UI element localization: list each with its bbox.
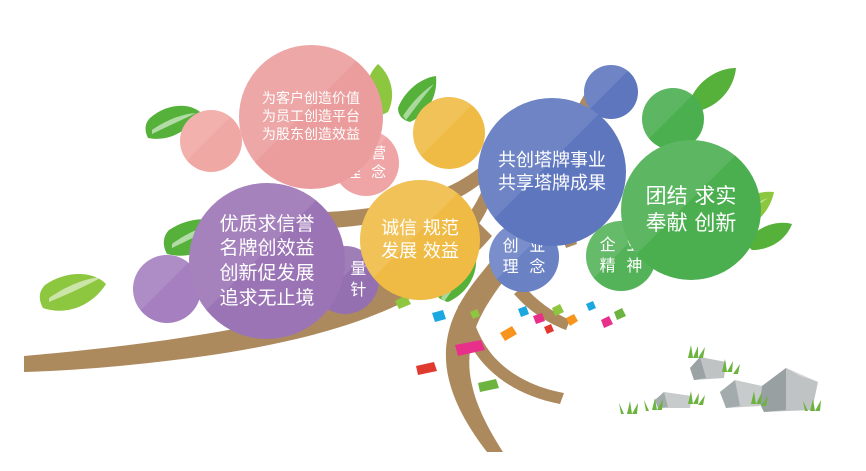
bubble-vision[interactable]: 共创塔牌事业 共享塔牌成果: [478, 98, 626, 246]
bubble-text-line: 奉献 创新: [646, 210, 737, 237]
bubble-text-line: 共创塔牌事业: [498, 149, 606, 172]
bubble-text-line: 优质求信誉: [219, 212, 314, 237]
bubble-core-values[interactable]: 诚信 规范 发展 效益: [360, 180, 480, 300]
bubble-text-line: 为员工创造平台: [262, 108, 360, 126]
bubble-text-line: 共享塔牌成果: [498, 172, 606, 195]
bubble-text-line: 名牌创效益: [219, 236, 314, 261]
rocks-group: [619, 345, 821, 414]
decorative-bubble-yellow: [413, 97, 485, 169]
bubble-quality-policy[interactable]: 优质求信誉 名牌创效益 创新促发展 追求无止境: [189, 183, 345, 339]
bubble-text-line: 追求无止境: [219, 286, 314, 311]
bubble-label-line: 精 神: [597, 256, 646, 277]
bubble-corporate-spirit[interactable]: 团结 求实 奉献 创新: [621, 140, 761, 280]
bubble-text-line: 发展 效益: [381, 240, 459, 263]
leaf-icon: [40, 274, 106, 311]
bubble-business-philosophy[interactable]: 为客户创造价值 为员工创造平台 为股东创造效益: [239, 45, 383, 189]
bubble-text-line: 诚信 规范: [381, 217, 459, 240]
bubble-text-line: 团结 求实: [646, 183, 737, 210]
bubble-text-line: 为股东创造效益: [262, 126, 360, 144]
bubble-label-line: 理 念: [500, 257, 549, 278]
bubble-text-line: 创新促发展: [219, 261, 314, 286]
bubble-text-line: 为客户创造价值: [262, 90, 360, 108]
decorative-bubble-pink: [180, 110, 242, 172]
infographic-canvas: 经 营 理 念 为客户创造价值 为员工创造平台 为股东创造效益 质 量 方 针 …: [0, 0, 866, 471]
